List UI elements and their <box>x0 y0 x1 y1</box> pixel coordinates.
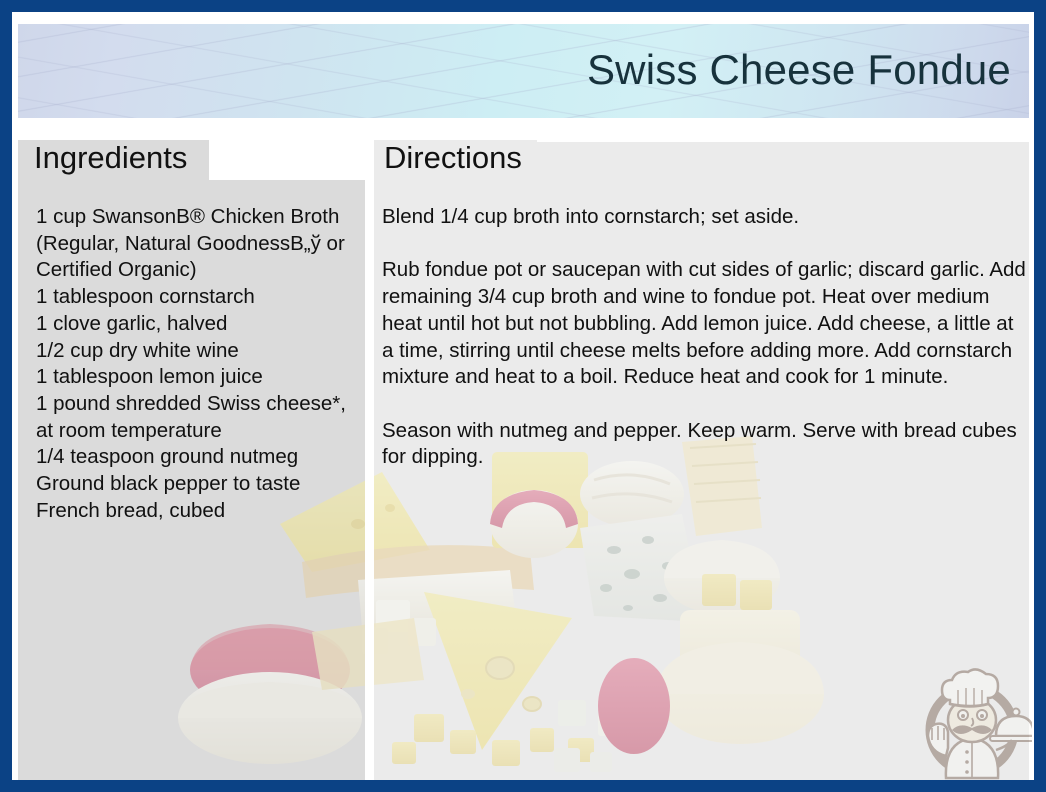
directions-heading: Directions <box>374 140 537 180</box>
header-banner: Swiss Cheese Fondue <box>18 24 1029 118</box>
directions-body: Blend 1/4 cup broth into cornstarch; set… <box>382 204 1027 471</box>
ingredients-heading: Ingredients <box>18 140 209 180</box>
ingredients-heading-label: Ingredients <box>34 138 187 178</box>
recipe-title: Swiss Cheese Fondue <box>587 49 1011 91</box>
ingredients-list: 1 cup SwansonВ® Chicken Broth (Regular, … <box>36 204 366 524</box>
panel-divider <box>365 140 374 784</box>
directions-heading-label: Directions <box>384 138 522 178</box>
recipe-card: Swiss Cheese Fondue <box>0 0 1046 792</box>
